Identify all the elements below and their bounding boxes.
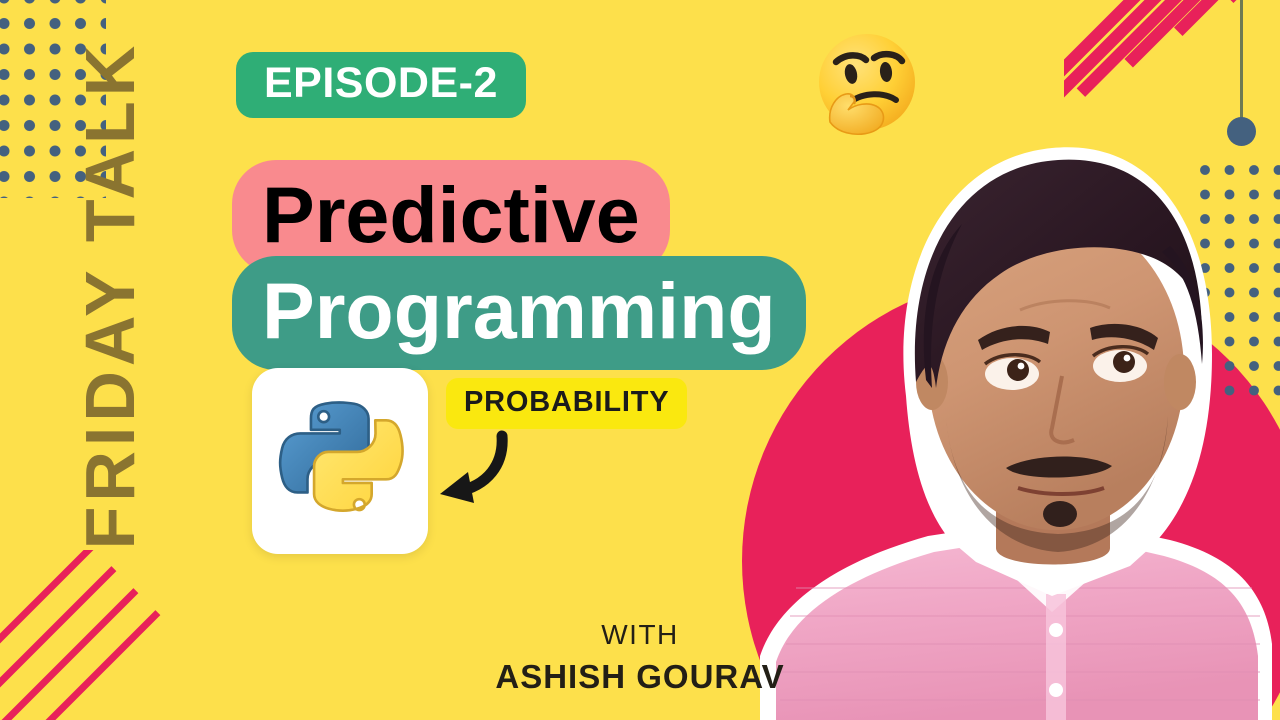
python-logo-card	[252, 368, 428, 554]
credit-prefix: WITH	[0, 618, 1280, 652]
youtube-thumbnail: FRIDAY TALK EPISODE-2 Predictive Program…	[0, 0, 1280, 720]
episode-badge: EPISODE-2	[236, 52, 526, 118]
curved-arrow-icon	[430, 430, 530, 510]
python-logo-icon	[274, 395, 406, 527]
show-name-vertical: FRIDAY TALK	[70, 0, 150, 595]
thinking-face-emoji	[806, 26, 928, 148]
title-line-programming: Programming	[232, 256, 806, 370]
credits-block: WITH ASHISH GOURAV	[0, 618, 1280, 697]
topic-badge-probability: PROBABILITY	[446, 378, 687, 429]
host-name: ASHISH GOURAV	[0, 656, 1280, 697]
